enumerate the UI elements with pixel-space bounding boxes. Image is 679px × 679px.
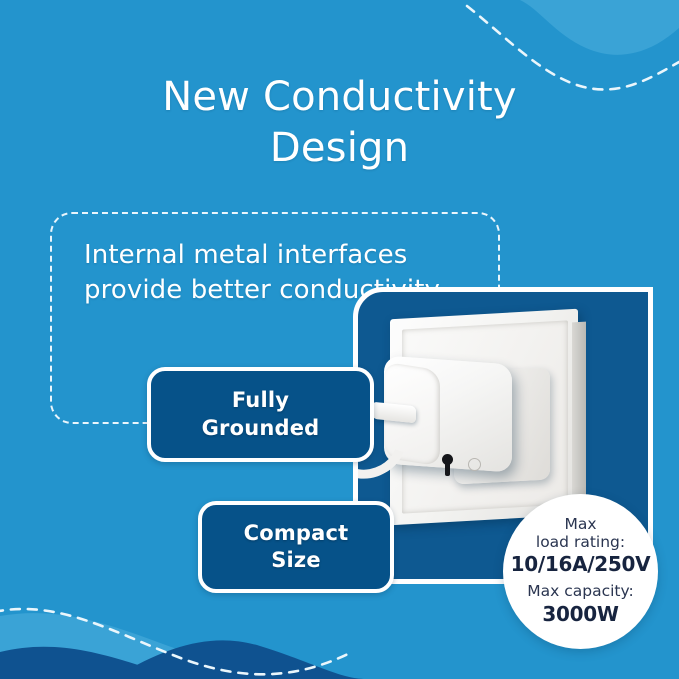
- keyhole-icon: [442, 454, 453, 465]
- badge-fully-grounded[interactable]: Fully Grounded: [147, 367, 374, 462]
- top-right-light-wave: [520, 0, 679, 55]
- spec-max-capacity-label: Max capacity:: [527, 583, 634, 601]
- page-title: New Conductivity Design: [0, 72, 679, 174]
- badge-compact-size-line-1: Compact: [244, 521, 349, 545]
- wall-socket-plate-edge: [572, 322, 586, 521]
- badge-fully-grounded-line-2: Grounded: [202, 416, 320, 440]
- badge-fully-grounded-line-1: Fully: [232, 388, 289, 412]
- page-title-line-2: Design: [0, 123, 679, 174]
- spec-max-capacity-value: 3000W: [542, 601, 618, 627]
- spec-load-rating-value: 10/16A/250V: [511, 551, 651, 577]
- certification-mark-icon: [468, 458, 481, 471]
- badge-compact-size[interactable]: Compact Size: [198, 501, 394, 593]
- page-title-line-1: New Conductivity: [0, 72, 679, 123]
- spec-max-label: Max: [564, 516, 596, 534]
- badge-compact-size-line-2: Size: [271, 548, 321, 572]
- badge-fully-grounded-text: Fully Grounded: [202, 387, 320, 442]
- spec-load-rating-label: load rating:: [536, 534, 625, 552]
- product-infographic-poster: New Conductivity Design Internal metal i…: [0, 0, 679, 679]
- spec-circle-badge: Max load rating: 10/16A/250V Max capacit…: [503, 494, 658, 649]
- badge-compact-size-text: Compact Size: [244, 520, 349, 575]
